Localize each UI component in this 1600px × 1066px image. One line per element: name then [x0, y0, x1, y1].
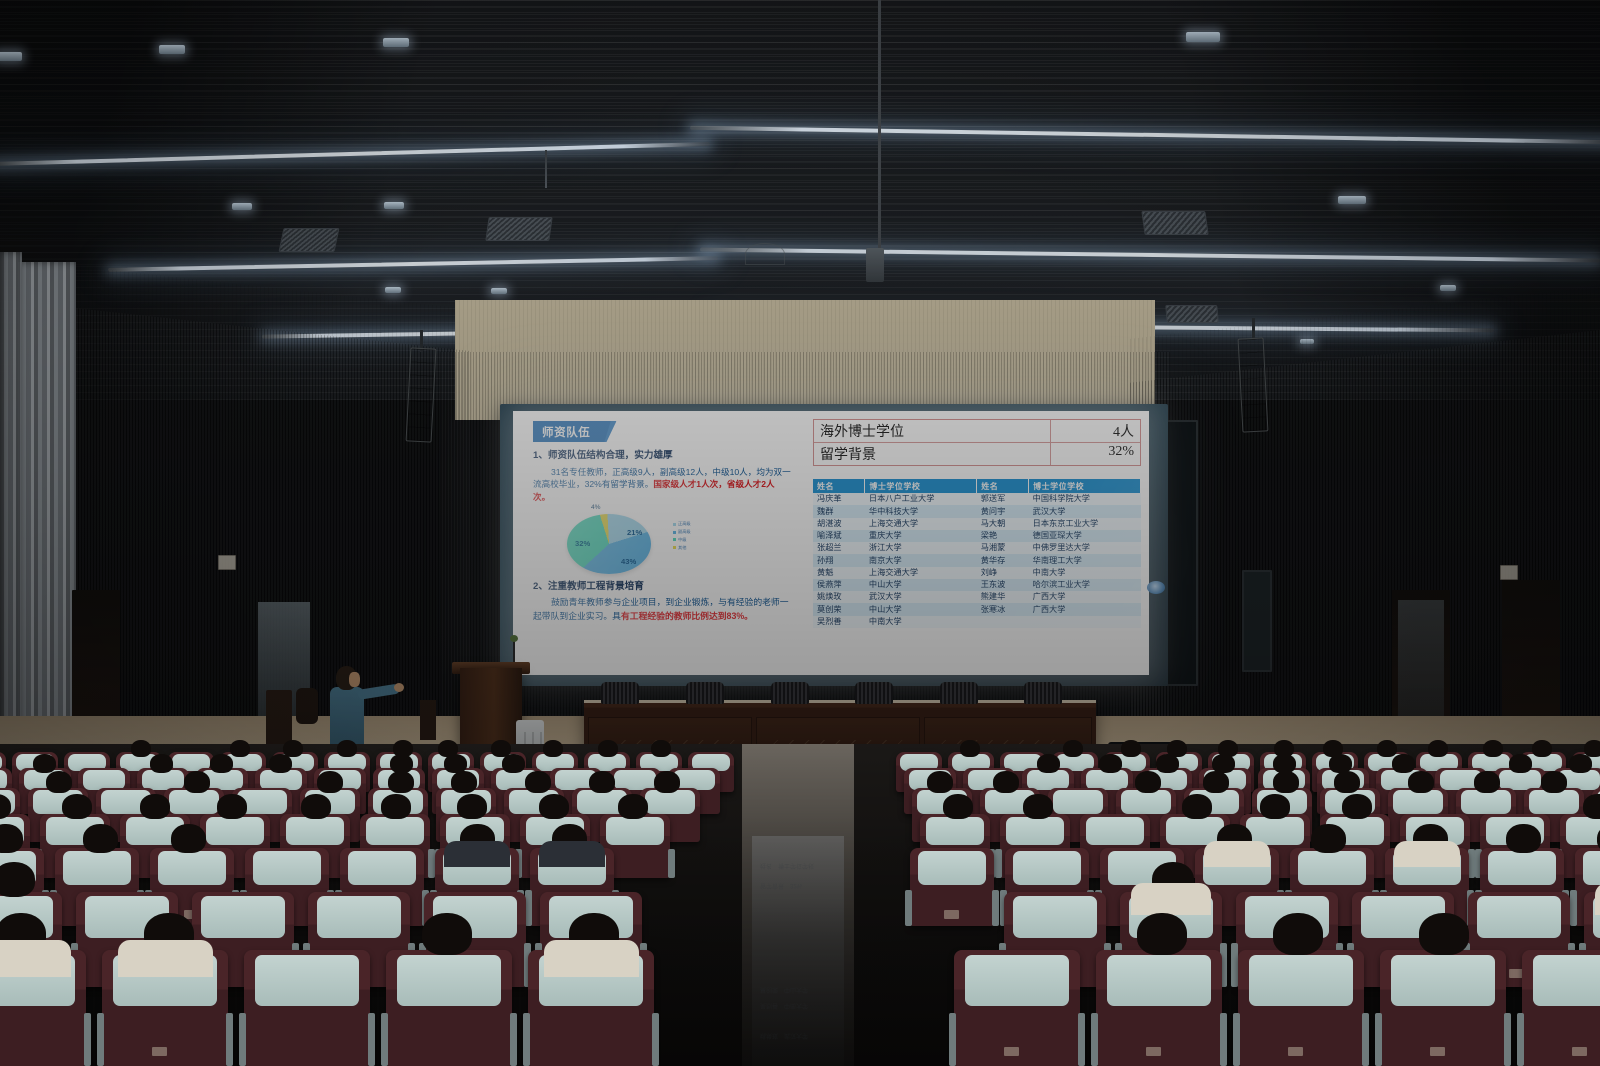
table-cell: 黄魁 [813, 567, 865, 579]
seat-armrest [995, 849, 1002, 878]
legend-item-3: 其他 [673, 544, 691, 552]
table-cell [977, 616, 1029, 628]
screen-light-reflection [1147, 581, 1165, 594]
recessed-downlight [159, 45, 185, 54]
seat-armrest [1220, 1013, 1227, 1066]
table-row: 孙翔南京大学黄华存华南理工大学 [813, 554, 1141, 566]
audience-member-head [1483, 740, 1503, 757]
table-cell: 日本东京工业大学 [1029, 518, 1141, 530]
seat-armrest [1517, 1013, 1524, 1066]
audience-member-head [1408, 771, 1434, 793]
seat-cushion [1566, 817, 1600, 845]
audience-member-head [1099, 754, 1122, 773]
stat-label-0: 海外博士学位 [814, 420, 1050, 443]
audience-member-shoulders [0, 940, 71, 978]
legend-item-0: 正高级 [673, 520, 691, 528]
table-cell: 孙翔 [813, 554, 865, 566]
table-cell: 熊建华 [977, 591, 1029, 603]
audience-seat[interactable] [1380, 950, 1506, 1066]
seat-armrest [992, 890, 999, 926]
audience-member-shoulders [539, 841, 606, 867]
seat-number-tag [152, 1047, 167, 1056]
table-cell: 广西大学 [1029, 591, 1141, 603]
seat-armrest [1504, 1013, 1511, 1066]
seat-armrest [1362, 1013, 1369, 1066]
conference-chair[interactable] [771, 682, 809, 704]
ceiling-cable [545, 150, 547, 188]
line-array-speaker-right [1238, 337, 1269, 432]
table-cell: 华南理工大学 [1029, 554, 1141, 566]
audience-member-head [1273, 771, 1299, 793]
speaker-hanger-right [1252, 318, 1255, 340]
seat-armrest [1078, 1013, 1085, 1066]
conference-chair[interactable] [1024, 682, 1062, 704]
table-cell: 中山大学 [865, 579, 977, 591]
table-header-row: 姓名 博士学位学校 姓名 博士学位学校 [813, 479, 1141, 493]
audience-member-head [62, 794, 92, 819]
seat-cushion [606, 817, 663, 845]
seat-armrest [523, 1013, 530, 1066]
audience-member-head [0, 862, 35, 897]
audience-member-head [381, 794, 411, 819]
audience-member-head [539, 794, 569, 819]
audience-member-head [1392, 754, 1415, 773]
seat-armrest [239, 1013, 246, 1066]
audience-member-shoulders [544, 940, 639, 978]
presenter-face [349, 672, 360, 687]
seat-cushion [1013, 896, 1097, 938]
table-row: 莫创荣中山大学张寒冰广西大学 [813, 603, 1141, 615]
table-cell [1029, 616, 1141, 628]
audience-member-head [451, 771, 477, 793]
audience-member-head [1342, 794, 1372, 819]
recessed-downlight [0, 52, 22, 61]
table-row: 姚焕玫武汉大学熊建华广西大学 [813, 591, 1141, 603]
audience-member-head [269, 754, 292, 773]
pie-label-43: 43% [621, 557, 636, 566]
seat-cushion [366, 817, 423, 845]
ceiling-air-vent [1141, 211, 1208, 235]
audience-member-head [150, 754, 173, 773]
audience-member-head [651, 740, 671, 757]
audience-seat[interactable] [386, 950, 512, 1066]
audience-member-head [131, 740, 151, 757]
recessed-downlight [491, 288, 507, 294]
slide-title: 师资队伍 [533, 421, 616, 442]
table-cell: 上海交通大学 [865, 567, 977, 579]
presentation-slide: 师资队伍 1、师资队伍结构合理，实力雄厚 31名专任教师，正高级9人，副高级12… [513, 411, 1149, 675]
seat-number-tag [1572, 1047, 1587, 1056]
audience-member-head [1023, 794, 1053, 819]
ceiling-air-vent [278, 228, 339, 252]
recessed-downlight [1338, 196, 1366, 204]
seat-cushion [926, 817, 983, 845]
audience-member-head [230, 740, 250, 757]
conference-chair[interactable] [940, 682, 978, 704]
seat-armrest [1468, 849, 1475, 878]
seat-cushion [645, 790, 694, 814]
audience-seat[interactable] [244, 950, 370, 1066]
seat-cushion [1249, 955, 1352, 1006]
audience-member-head [1428, 740, 1448, 757]
legend-item-2: 中级 [673, 536, 691, 544]
conference-chair[interactable] [686, 682, 724, 704]
table-cell: 魏群 [813, 505, 865, 517]
seated-person-behind-presenter [296, 688, 318, 724]
table-row: 胡湛波上海交通大学马大朝日本东京工业大学 [813, 518, 1141, 530]
table-cell: 侯燕萍 [813, 579, 865, 591]
seat-armrest [428, 849, 435, 878]
audience-member-head [422, 913, 472, 955]
audience-member-head [337, 740, 357, 757]
audience-member-head [1137, 913, 1187, 955]
table-cell: 武汉大学 [1029, 505, 1141, 517]
recessed-downlight [232, 203, 252, 210]
table-cell: 刘峥 [977, 567, 1029, 579]
stat-value-0: 4人 [1050, 420, 1140, 443]
seat-cushion [1393, 790, 1442, 814]
seat-armrest [510, 1013, 517, 1066]
table-row: 冯庆革日本八户工业大学郭送军中国科学院大学 [813, 493, 1141, 505]
audience-member-head [217, 794, 247, 819]
steel-pillar-left [18, 262, 76, 760]
line-array-speaker-left [406, 347, 437, 442]
audience-member-head [618, 794, 648, 819]
seat-cushion [1006, 817, 1063, 845]
recessed-downlight [385, 287, 401, 293]
table-cell: 张寒冰 [977, 603, 1029, 615]
faculty-degree-table: 姓名 博士学位学校 姓名 博士学位学校 冯庆革日本八户工业大学郭送军中国科学院大… [813, 479, 1141, 628]
table-row: 喻泽斌重庆大学梁艳德国亚琛大学 [813, 530, 1141, 542]
audience-member-head [654, 771, 680, 793]
slide-section2-heading: 2、注重教师工程背景培育 [533, 578, 791, 592]
table-cell: 张超兰 [813, 542, 865, 554]
seat-armrest [1231, 943, 1238, 987]
table-row: 吴烈善中南大学 [813, 616, 1141, 628]
seat-cushion [1533, 955, 1600, 1006]
steel-pillar-left-outer [0, 252, 22, 762]
table-cell: 胡湛波 [813, 518, 865, 530]
slide-section2-body: 鼓励青年教师参与企业项目，到企业锻炼，与有经验的老师一起带队到企业实习。具有工程… [533, 596, 791, 622]
slide-right-column: 海外博士学位 4人 留学背景 32% 姓名 博士学位学校 姓名 博士学位学校 冯… [813, 419, 1141, 628]
table-cell: 黄华存 [977, 554, 1029, 566]
table-row: 黄魁上海交通大学刘峥中南大学 [813, 567, 1141, 579]
table-cell: 黄问宇 [977, 505, 1029, 517]
audience-member-shoulders [1595, 883, 1600, 915]
audience-member-head [960, 740, 980, 757]
auditorium-photo: 师资队伍 1、师资队伍结构合理，实力雄厚 31名专任教师，正高级9人，副高级12… [0, 0, 1600, 1066]
audience-member-head [543, 740, 563, 757]
recessed-downlight [383, 38, 409, 47]
pie-label-21: 21% [627, 528, 642, 537]
section2-red-text: 有工程经验的教师比例达到83%。 [621, 611, 753, 621]
table-row: 魏群华中科技大学黄问宇武汉大学 [813, 505, 1141, 517]
table-cell: 喻泽斌 [813, 530, 865, 542]
audience-member-head [1419, 913, 1469, 955]
table-cell: 武汉大学 [865, 591, 977, 603]
seat-armrest [905, 890, 912, 926]
audience-member-shoulders [1204, 841, 1271, 867]
light-switch-left [218, 555, 236, 570]
audience-member-head [1182, 794, 1212, 819]
projector-mount [866, 248, 884, 282]
seat-cushion [63, 851, 132, 885]
stat-label-1: 留学背景 [814, 443, 1050, 465]
table-cell: 重庆大学 [865, 530, 977, 542]
slide-left-column: 师资队伍 1、师资队伍结构合理，实力雄厚 31名专任教师，正高级9人，副高级12… [533, 421, 791, 623]
audience-seat[interactable] [1096, 950, 1222, 1066]
conference-chair[interactable] [855, 682, 893, 704]
audience-member-head [46, 771, 72, 793]
audience-member-head [502, 754, 525, 773]
projection-screen[interactable]: 师资队伍 1、师资队伍结构合理，实力雄厚 31名专任教师，正高级9人，副高级12… [513, 411, 1149, 675]
seat-cushion [158, 851, 227, 885]
table-cell: 马大朝 [977, 518, 1029, 530]
audience-seat[interactable] [1522, 950, 1600, 1066]
conference-chair[interactable] [601, 682, 639, 704]
seat-armrest [1375, 1013, 1382, 1066]
seat-armrest [226, 1013, 233, 1066]
seat-cushion [965, 955, 1068, 1006]
audience-member-head [1506, 824, 1541, 853]
audience-member-head [993, 771, 1019, 793]
seat-cushion [1529, 790, 1578, 814]
table-cell: 浙江大学 [865, 542, 977, 554]
audience-member-head [388, 771, 414, 793]
pie-label-4: 4% [591, 504, 601, 511]
table-cell: 中国科学院大学 [1029, 493, 1141, 505]
audience-member-head [525, 771, 551, 793]
table-header-cell: 博士学位学校 [1029, 479, 1141, 493]
seat-number-tag [1146, 1047, 1161, 1056]
audience-member-head [1203, 771, 1229, 793]
seat-cushion [1086, 817, 1143, 845]
audience-member-head [1532, 740, 1552, 757]
table-header-cell: 姓名 [977, 479, 1029, 493]
ceiling-bracket [745, 243, 785, 265]
slide-section1-heading: 1、师资队伍结构合理，实力雄厚 [533, 447, 791, 461]
audience-member-head [1311, 824, 1346, 853]
table-row: 侯燕萍中山大学王东波哈尔滨工业大学 [813, 579, 1141, 591]
table-cell: 中南大学 [1029, 567, 1141, 579]
audience-member-head [943, 794, 973, 819]
seat-armrest [1570, 890, 1577, 926]
seat-cushion [255, 955, 358, 1006]
audience-member-head [1273, 913, 1323, 955]
table-cell: 王东波 [977, 579, 1029, 591]
table-cell: 姚焕玫 [813, 591, 865, 603]
audience-seat[interactable] [1238, 950, 1364, 1066]
table-cell: 南京大学 [865, 554, 977, 566]
seat-cushion [201, 896, 285, 938]
presenter-hand [394, 683, 404, 692]
audience-member-head [1260, 794, 1290, 819]
seat-cushion [206, 817, 263, 845]
seat-cushion [1477, 896, 1561, 938]
ceiling-air-vent [485, 217, 552, 241]
table-cell: 日本八户工业大学 [865, 493, 977, 505]
table-cell: 中佛罗里达大学 [1029, 542, 1141, 554]
seat-armrest [1233, 1013, 1240, 1066]
audience-seat[interactable] [910, 848, 994, 926]
pie-label-32: 32% [575, 539, 590, 548]
audience-member-head [83, 824, 118, 853]
table-cell: 中南大学 [865, 616, 977, 628]
seat-armrest [97, 1013, 104, 1066]
audience-member-head [184, 771, 210, 793]
table-cell: 梁艳 [977, 530, 1029, 542]
seat-cushion [1461, 790, 1510, 814]
seat-armrest [525, 890, 532, 926]
projector-drop-pole [878, 0, 881, 250]
audience-member-head [927, 771, 953, 793]
recessed-downlight [1440, 285, 1456, 291]
audience-member-head [589, 771, 615, 793]
slide-section1-body: 31名专任教师，正高级9人，副高级12人，中级10人，均为双一流高校毕业，32%… [533, 466, 791, 503]
pie-chart: 4% 21% 43% 32% 正高级 副高级 中级 其他 [533, 506, 791, 572]
audience-member-head [1474, 771, 1500, 793]
audience-member-head [1063, 740, 1083, 757]
table-cell: 哈尔滨工业大学 [1029, 579, 1141, 591]
recessed-downlight [1186, 32, 1220, 42]
audience-member-head [1121, 740, 1141, 757]
seat-cushion [348, 851, 417, 885]
seat-cushion [317, 896, 401, 938]
audience-member-head [140, 794, 170, 819]
seat-armrest [84, 1013, 91, 1066]
table-header-cell: 博士学位学校 [865, 479, 977, 493]
seat-cushion [1053, 790, 1102, 814]
stat-value-1: 32% [1050, 443, 1140, 465]
audience-member-head [317, 771, 343, 793]
table-body: 冯庆革日本八户工业大学郭送军中国科学院大学魏群华中科技大学黄问宇武汉大学胡湛波上… [813, 493, 1141, 628]
seat-cushion [397, 955, 500, 1006]
legend-item-1: 副高级 [673, 528, 691, 536]
ceiling-air-vent [1165, 305, 1219, 323]
seat-cushion [1488, 851, 1557, 885]
seat-number-tag [1288, 1047, 1303, 1056]
audience-member-head [1037, 754, 1060, 773]
seat-armrest [1091, 1013, 1098, 1066]
seat-number-tag [1004, 1047, 1019, 1056]
audience-member-shoulders [1131, 883, 1211, 915]
table-cell: 广西大学 [1029, 603, 1141, 615]
audience-member-head [1509, 754, 1532, 773]
seat-armrest [949, 1013, 956, 1066]
table-cell: 上海交通大学 [865, 518, 977, 530]
wall-niche-right [1242, 570, 1272, 672]
table-cell: 马湘蒙 [977, 542, 1029, 554]
floor-reflection: 姓名 博士学位学校 留学背景 32% 莫创荣 中山大学 吴烈善 中南大学 姚焕玫… [752, 836, 844, 1066]
seat-cushion [1583, 851, 1600, 885]
audience-member-head [1377, 740, 1397, 757]
audience-member-head [33, 754, 56, 773]
audience-member-head [1583, 794, 1600, 819]
seat-armrest [668, 849, 675, 878]
seat-cushion [918, 851, 987, 885]
recessed-downlight [384, 202, 404, 209]
audience-seat[interactable] [954, 950, 1080, 1066]
table-cell: 华中科技大学 [865, 505, 977, 517]
light-switch-right [1500, 565, 1518, 580]
table-cell: 莫创荣 [813, 603, 865, 615]
table-header-cell: 姓名 [813, 479, 865, 493]
stage-equipment [420, 700, 436, 740]
audience-member-head [1156, 754, 1179, 773]
audience-member-head [1334, 771, 1360, 793]
table-cell: 郭送军 [977, 493, 1029, 505]
seat-armrest [381, 1013, 388, 1066]
seat-number-tag [944, 910, 959, 919]
pie-legend: 正高级 副高级 中级 其他 [673, 520, 691, 551]
table-cell: 冯庆革 [813, 493, 865, 505]
seat-armrest [368, 1013, 375, 1066]
seat-cushion [1107, 955, 1210, 1006]
audience-member-shoulders [444, 841, 511, 867]
table-cell: 吴烈善 [813, 616, 865, 628]
audience-member-shoulders [118, 940, 213, 978]
overseas-stat-box: 海外博士学位 4人 留学背景 32% [813, 419, 1141, 466]
seat-cushion [1391, 955, 1494, 1006]
seat-cushion [286, 817, 343, 845]
seat-armrest [652, 1013, 659, 1066]
audience-member-head [210, 754, 233, 773]
seat-cushion [169, 790, 218, 814]
seat-cushion [253, 851, 322, 885]
table-cell: 中山大学 [865, 603, 977, 615]
audience-member-head [1541, 771, 1567, 793]
table-row: 张超兰浙江大学马湘蒙中佛罗里达大学 [813, 542, 1141, 554]
seat-number-tag [1430, 1047, 1445, 1056]
audience-member-shoulders [1394, 841, 1461, 867]
seat-cushion [1298, 851, 1367, 885]
seat-cushion [1121, 790, 1170, 814]
table-cell: 德国亚琛大学 [1029, 530, 1141, 542]
audience-member-head [1569, 754, 1592, 773]
audience-member-head [301, 794, 331, 819]
audience-member-head [1135, 771, 1161, 793]
audience-member-head [457, 794, 487, 819]
audience-member-head [598, 740, 618, 757]
seat-cushion [1013, 851, 1082, 885]
audience-member-head [171, 824, 206, 853]
